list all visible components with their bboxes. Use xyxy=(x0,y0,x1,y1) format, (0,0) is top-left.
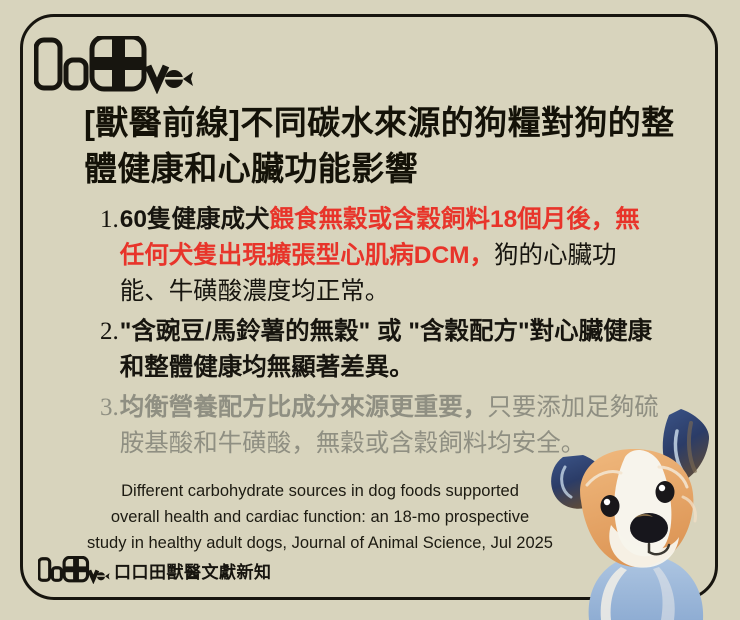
footer-logo-v-mark xyxy=(89,570,97,579)
footer-logo-fish-stripe xyxy=(97,575,105,576)
logo-bar-short xyxy=(66,60,86,88)
dog-eye-right xyxy=(656,481,675,503)
dog-eye-left xyxy=(601,495,620,517)
citation-line-1: Different carbohydrate sources in dog fo… xyxy=(58,478,582,504)
list-item-number: 2. xyxy=(100,314,120,350)
logo-bar-tall xyxy=(36,40,60,88)
list-item-text: 60隻健康成犬餵食無穀或含穀飼料18個月後，無任何犬隻出現擴張型心肌病DCM，狗… xyxy=(120,202,660,310)
footer-logo xyxy=(38,556,110,584)
logo-v-mark xyxy=(148,66,166,86)
list-item-number: 1. xyxy=(100,202,120,238)
point1-seg-black-lead: 60隻健康成犬 xyxy=(120,206,270,233)
logo-fish-stripe xyxy=(165,77,183,80)
citation-line-2: overall health and cardiac function: an … xyxy=(58,504,582,530)
dog-eye-right-glint xyxy=(659,485,665,491)
page-title: [獸醫前線]不同碳水來源的狗糧對狗的整體健康和心臟功能影響 xyxy=(84,100,684,191)
footer-logo-bar-tall xyxy=(39,559,50,581)
footer: 口口田獸醫文獻新知 xyxy=(38,556,272,584)
point3-seg-gray-bold: 均衡營養配方比成分來源更重要， xyxy=(120,394,488,421)
footer-logo-fish-tail xyxy=(105,573,110,579)
terrier-dog-illustration xyxy=(541,405,740,620)
brand-logo-svg xyxy=(34,36,194,94)
list-item: 1. 60隻健康成犬餵食無穀或含穀飼料18個月後，無任何犬隻出現擴張型心肌病DC… xyxy=(100,202,660,310)
citation-line-3: study in healthy adult dogs, Journal of … xyxy=(58,530,582,556)
point2-seg-black: "含豌豆/馬鈴薯的無穀" 或 "含穀配方"對心臟健康和整體健康均無顯著差異。 xyxy=(120,318,652,381)
footer-text: 口口田獸醫文獻新知 xyxy=(114,558,272,583)
footer-logo-svg xyxy=(38,556,110,584)
logo-cross-horizontal xyxy=(92,57,144,70)
dog-svg xyxy=(541,405,740,620)
dog-eye-left-glint xyxy=(604,499,610,505)
infographic-card: [獸醫前線]不同碳水來源的狗糧對狗的整體健康和心臟功能影響 1. 60隻健康成犬… xyxy=(0,0,740,620)
list-item-number: 3. xyxy=(100,390,120,426)
citation: Different carbohydrate sources in dog fo… xyxy=(58,478,582,556)
footer-logo-cross-horizontal xyxy=(64,566,87,572)
brand-logo xyxy=(34,36,194,94)
logo-fish-tail xyxy=(183,72,193,86)
footer-logo-bar-short xyxy=(52,568,61,581)
list-item-text: "含豌豆/馬鈴薯的無穀" 或 "含穀配方"對心臟健康和整體健康均無顯著差異。 xyxy=(120,314,660,386)
list-item: 2. "含豌豆/馬鈴薯的無穀" 或 "含穀配方"對心臟健康和整體健康均無顯著差異… xyxy=(100,314,660,386)
